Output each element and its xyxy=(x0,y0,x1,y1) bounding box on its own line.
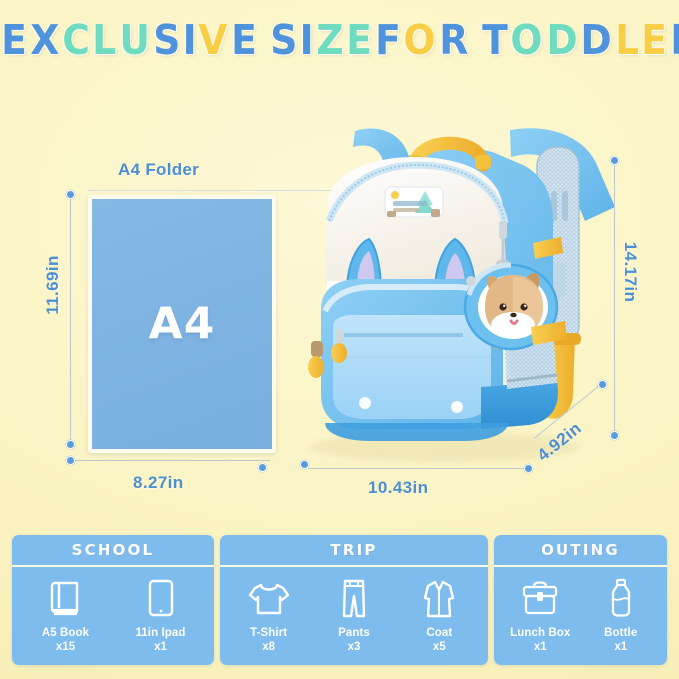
title-letter: O xyxy=(511,16,544,64)
title-letter: E xyxy=(641,16,667,64)
panel-item-coat: Coat x5 xyxy=(397,575,482,654)
title-letter: D xyxy=(546,16,578,64)
panel-item-qty: x3 xyxy=(348,641,361,655)
backpack-illustration xyxy=(285,95,645,480)
pocket-face xyxy=(333,315,491,419)
panel-item-qty: x1 xyxy=(534,641,547,655)
backpack-depth-dot-right xyxy=(598,380,607,389)
bottle-icon xyxy=(607,575,635,623)
panel-item-label: Lunch Box xyxy=(510,626,570,640)
folder-width-dot-right xyxy=(258,463,267,472)
title-letter: E xyxy=(1,16,27,64)
panel-item-qty: x8 xyxy=(262,641,275,655)
panel-item-pants: Pants x3 xyxy=(311,575,396,654)
backpack-width-text: 10.43in xyxy=(368,478,428,498)
title-word-space xyxy=(259,16,269,64)
tablet-icon xyxy=(145,575,177,623)
backpack-height-dot-bottom xyxy=(610,431,619,440)
panel-body-outing: Lunch Box x1 Bottle x1 xyxy=(494,567,667,665)
title-letter: I xyxy=(182,16,197,64)
a4-size-text: A4 xyxy=(92,299,272,350)
a4-folder-shape: A4 xyxy=(88,195,276,453)
folder-height-line xyxy=(70,194,71,444)
panel-column-outing: OUTING Lunch Box x1 xyxy=(494,535,667,665)
folder-width-text: 8.27in xyxy=(133,473,184,493)
backpack-width-dot-left xyxy=(300,460,309,469)
title-letter: D xyxy=(580,16,612,64)
backpack-height-line xyxy=(614,160,615,435)
lunchbox-icon xyxy=(519,575,561,623)
title-letter: Z xyxy=(316,16,344,64)
page-title: EXCLUSIVE SIZEFOR TODDLERS xyxy=(0,16,679,72)
backpack-bottom-band xyxy=(481,381,558,429)
backpack-width-dot-right xyxy=(524,464,533,473)
title-letter: C xyxy=(62,16,90,64)
title-letter: R xyxy=(670,16,679,64)
folder-height-dot-top xyxy=(66,190,75,199)
panel-item-qty: x15 xyxy=(56,641,75,655)
a4-folder-label: A4 Folder xyxy=(118,160,199,180)
panel-item-label: T-Shirt xyxy=(250,626,287,640)
folder-width-line xyxy=(74,460,270,461)
title-word-space xyxy=(470,16,480,64)
panel-item-ipad: 11in Ipad x1 xyxy=(118,575,204,654)
panel-item-qty: x5 xyxy=(433,641,446,655)
panel-header-trip: TRIP xyxy=(220,535,488,567)
panel-item-label: Coat xyxy=(426,626,452,640)
panel-column-trip: TRIP T-Shirt x8 xyxy=(220,535,488,665)
title-letter: V xyxy=(199,16,229,64)
panel-header-outing: OUTING xyxy=(494,535,667,567)
coat-icon xyxy=(420,575,458,623)
panel-item-qty: x1 xyxy=(614,641,627,655)
title-letter: S xyxy=(270,16,298,64)
infographic-page: EXCLUSIVE SIZEFOR TODDLERS A4 Folder A4 … xyxy=(0,0,679,679)
panel-item-label: Pants xyxy=(338,626,370,640)
title-letter: L xyxy=(615,16,640,64)
panel-body-trip: T-Shirt x8 Pants x3 xyxy=(220,567,488,665)
panel-column-school: SCHOOL A5 Book x15 xyxy=(12,535,214,665)
logo-patch xyxy=(385,187,443,217)
title-letter: E xyxy=(231,16,257,64)
panel-item-bottle: Bottle x1 xyxy=(581,575,662,654)
backpack-height-dot-top xyxy=(610,156,619,165)
usage-panel: SCHOOL A5 Book x15 xyxy=(12,535,667,665)
folder-height-dot-bottom xyxy=(66,440,75,449)
backpack-width-line xyxy=(308,468,530,469)
pants-icon xyxy=(337,575,371,623)
panel-item-a5-book: A5 Book x15 xyxy=(23,575,109,654)
title-letter: X xyxy=(30,16,60,64)
tshirt-icon xyxy=(247,575,291,623)
title-letter: F xyxy=(375,16,401,64)
title-letter: S xyxy=(153,16,181,64)
title-letter: O xyxy=(404,16,437,64)
panel-item-label: Bottle xyxy=(604,626,637,640)
backpack-height-text: 14.17in xyxy=(620,242,640,302)
panel-body-school: A5 Book x15 11in Ipad x1 xyxy=(12,567,214,665)
panel-item-qty: x1 xyxy=(154,641,167,655)
title-letter: I xyxy=(300,16,315,64)
panel-item-label: 11in Ipad xyxy=(135,626,185,640)
folder-height-text: 11.69in xyxy=(43,255,63,315)
panel-item-tshirt: T-Shirt x8 xyxy=(226,575,311,654)
panel-item-label: A5 Book xyxy=(42,626,89,640)
title-letter: T xyxy=(482,16,508,64)
panel-item-lunch-box: Lunch Box x1 xyxy=(500,575,581,654)
title-letter: R xyxy=(439,16,469,64)
folder-width-dot-left xyxy=(66,456,75,465)
title-letter: E xyxy=(346,16,372,64)
panel-header-school: SCHOOL xyxy=(12,535,214,567)
title-letter: U xyxy=(119,16,150,64)
book-icon xyxy=(48,575,84,623)
title-letter: L xyxy=(92,16,117,64)
